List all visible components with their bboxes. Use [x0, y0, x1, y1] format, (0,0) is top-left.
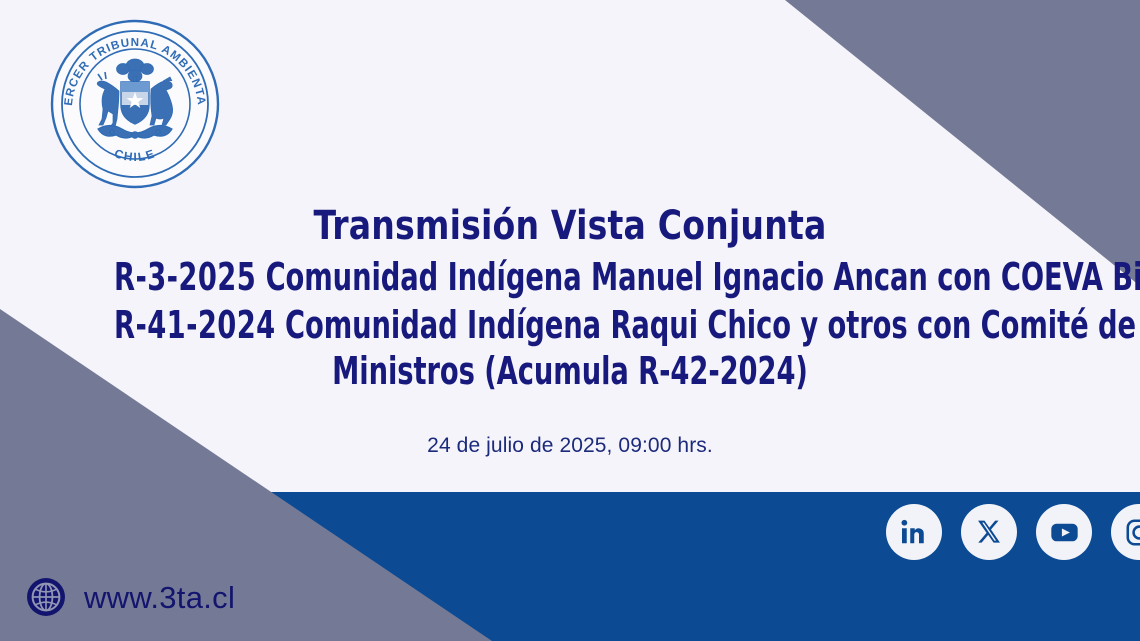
- shield: [121, 82, 149, 124]
- instagram-button[interactable]: [1111, 504, 1140, 560]
- case-1-id: R-3-2025: [114, 255, 256, 299]
- instagram-icon: [1125, 518, 1140, 547]
- case-line-3: Ministros (Acumula R-42-2024): [114, 344, 1026, 390]
- x-twitter-icon: [975, 518, 1003, 546]
- social-links-bar: [886, 504, 1140, 560]
- case-1-text: Comunidad Indígena Manuel Ignacio Ancan …: [266, 255, 1140, 299]
- case-2-text: Comunidad Indígena Raqui Chico y otros c…: [285, 303, 1136, 347]
- case-line-1: R-3-2025 Comunidad Indígena Manuel Ignac…: [114, 248, 1026, 296]
- tribunal-seal-logo: TERCER TRIBUNAL AMBIENTAL CHILE: [50, 19, 220, 189]
- linkedin-button[interactable]: [886, 504, 942, 560]
- website-url[interactable]: www.3ta.cl: [84, 582, 235, 613]
- case-2-id: R-41-2024: [114, 303, 276, 347]
- event-datetime: 24 de julio de 2025, 09:00 hrs.: [0, 390, 1140, 458]
- x-twitter-button[interactable]: [961, 504, 1017, 560]
- website-footer[interactable]: www.3ta.cl: [26, 577, 235, 617]
- globe-icon: [26, 577, 66, 617]
- announcement-card: TERCER TRIBUNAL AMBIENTAL CHILE: [0, 0, 1140, 641]
- announcement-text-block: Transmisión Vista Conjunta R-3-2025 Comu…: [0, 206, 1140, 458]
- page-title: Transmisión Vista Conjunta: [46, 206, 1095, 248]
- case-line-2: R-41-2024 Comunidad Indígena Raqui Chico…: [114, 296, 1026, 344]
- youtube-icon: [1049, 517, 1080, 548]
- linkedin-icon: [899, 517, 929, 547]
- youtube-button[interactable]: [1036, 504, 1092, 560]
